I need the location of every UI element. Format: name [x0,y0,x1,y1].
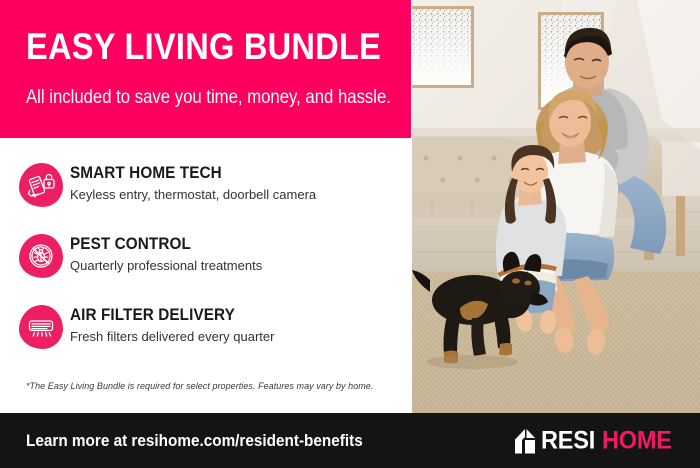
house-logo-icon [512,427,538,454]
logo-text-resi: RESI [541,428,595,453]
footer-cta-text[interactable]: Learn more at resihome.com/resident-bene… [26,431,363,451]
feature-description: Keyless entry, thermostat, doorbell came… [70,187,406,203]
feature-list: SMART HOME TECH Keyless entry, thermosta… [0,138,412,351]
hero-subtitle: All included to save you time, money, an… [26,88,391,109]
feature-item: SMART HOME TECH Keyless entry, thermosta… [0,138,412,209]
disclaimer-text: *The Easy Living Bundle is required for … [26,381,373,391]
feature-description: Fresh filters delivered every quarter [70,329,406,345]
marketing-flyer: EASY LIVING BUNDLE All included to save … [0,0,700,468]
logo-text-home: HOME [602,428,672,453]
feature-title: SMART HOME TECH [70,164,372,183]
footer-bar: Learn more at resihome.com/resident-bene… [0,413,700,468]
air-conditioner-filter-icon [19,305,63,349]
left-content-column: EASY LIVING BUNDLE All included to save … [0,0,412,413]
family-lifestyle-photo [412,0,700,413]
feature-title: PEST CONTROL [70,235,372,254]
feature-item: PEST CONTROL Quarterly professional trea… [0,209,412,280]
no-pest-icon [19,234,63,278]
hero-banner: EASY LIVING BUNDLE All included to save … [0,0,411,138]
hero-title: EASY LIVING BUNDLE [26,28,381,65]
feature-description: Quarterly professional treatments [70,258,406,274]
feature-title: AIR FILTER DELIVERY [70,306,372,325]
feature-item: AIR FILTER DELIVERY Fresh filters delive… [0,280,412,351]
smart-lock-phone-icon [19,163,63,207]
resihome-logo[interactable]: RESI HOME [512,427,676,454]
